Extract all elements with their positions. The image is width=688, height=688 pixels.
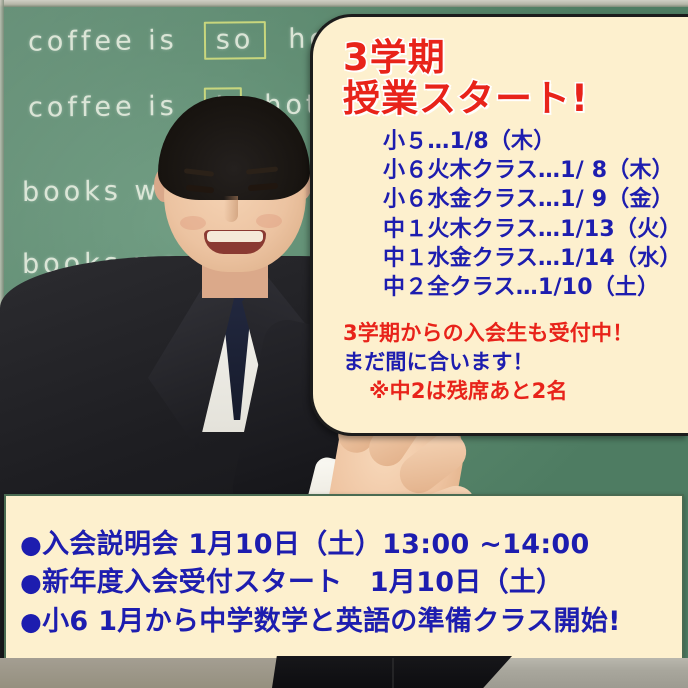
chalk-line-1-box: so <box>204 21 267 60</box>
smiling-mouth <box>204 230 266 254</box>
banner-item-prep-class: ●小6 1月から中学数学と英語の準備クラス開始! <box>20 603 682 641</box>
promo-poster: coffee issohot coffee isthot books we bo… <box>0 0 688 688</box>
chalk-line-1-pre: coffee is <box>28 25 178 58</box>
bullet-icon: ● <box>20 568 42 597</box>
info-panel: 3学期 授業スタート! 小５…1/8（木） 小６火木クラス…1/ 8（木） 小６… <box>310 14 688 436</box>
banner-item-text: 新年度入会受付スタート 1月10日（土） <box>42 567 563 598</box>
banner-list: ●入会説明会 1月10日（土）13:00 ~14:00 ●新年度入会受付スタート… <box>6 496 682 641</box>
teeth <box>207 231 263 242</box>
schedule-item: 小６火木クラス…1/ 8（木） <box>383 156 678 185</box>
enrollment-note: 3学期からの入会生も受付中！ まだ間に合います！ ※中2は残席あと2名 <box>343 319 678 406</box>
schedule-item: 中１火木クラス…1/13（火） <box>383 215 678 244</box>
headline-line-2: 授業スタート! <box>343 78 678 119</box>
class-schedule-list: 小５…1/8（木） 小６火木クラス…1/ 8（木） 小６水金クラス…1/ 9（金… <box>343 127 678 303</box>
schedule-item: 小５…1/8（木） <box>383 127 678 156</box>
note-still-in-time: まだ間に合います！ <box>343 348 678 377</box>
headline-line-1: 3学期 <box>343 36 446 79</box>
banner-item-briefing: ●入会説明会 1月10日（土）13:00 ~14:00 <box>20 526 682 564</box>
bullet-icon: ● <box>20 530 42 559</box>
headline: 3学期 授業スタート! <box>343 37 678 120</box>
chalk-ledge-seam <box>392 658 394 688</box>
nose <box>224 196 238 222</box>
banner-item-registration: ●新年度入会受付スタート 1月10日（土） <box>20 564 682 602</box>
chalk-line-1: coffee issohot <box>28 20 345 61</box>
chalkboard-top-frame <box>0 0 688 7</box>
cheek-right <box>256 214 282 228</box>
chalk-ledge-left <box>0 658 278 688</box>
bullet-icon: ● <box>20 607 42 636</box>
banner-item-text: 小6 1月から中学数学と英語の準備クラス開始! <box>42 606 621 637</box>
bottom-banner: ●入会説明会 1月10日（土）13:00 ~14:00 ●新年度入会受付スタート… <box>4 494 684 666</box>
note-remaining-seats: ※中2は残席あと2名 <box>369 377 678 406</box>
banner-item-text: 入会説明会 1月10日（土）13:00 ~14:00 <box>42 529 589 560</box>
cheek-left <box>180 216 206 230</box>
hair <box>158 96 310 200</box>
schedule-item: 小６水金クラス…1/ 9（金） <box>383 185 678 214</box>
note-accepting-enrollment: 3学期からの入会生も受付中！ <box>343 319 678 348</box>
schedule-item: 中１水金クラス…1/14（水） <box>383 244 678 273</box>
schedule-item: 中２全クラス…1/10（土） <box>383 273 678 302</box>
